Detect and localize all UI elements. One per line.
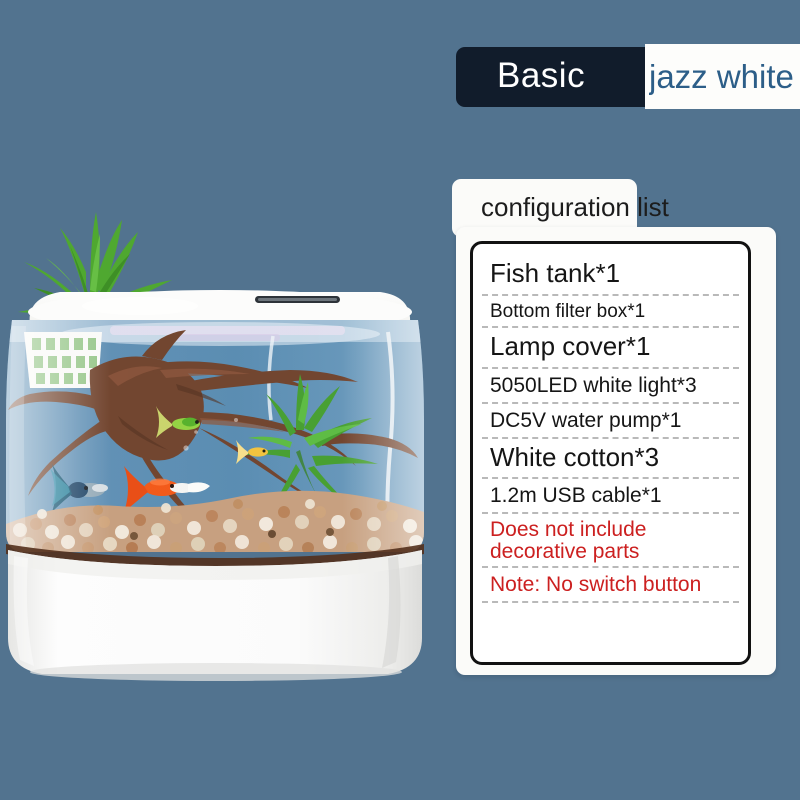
lid-vent-icon: [255, 296, 340, 303]
tank-body: [6, 320, 426, 568]
config-item-label: Fish tank*1: [490, 258, 620, 288]
header-basic-label: Basic: [497, 56, 585, 96]
config-item-label: 5050LED white light*3: [490, 374, 697, 397]
config-item: Does not include decorative parts: [473, 514, 748, 568]
fish-tank-illustration: [0, 120, 440, 700]
configuration-items-box: Fish tank*1Bottom filter box*1Lamp cover…: [470, 241, 751, 665]
config-item-label: DC5V water pump*1: [490, 409, 681, 432]
config-item-label: Lamp cover*1: [490, 331, 650, 361]
config-item-label: Bottom filter box*1: [490, 301, 645, 322]
config-item-separator: [482, 601, 739, 603]
config-item: Fish tank*1: [473, 255, 748, 296]
config-item: White cotton*3: [473, 439, 748, 480]
config-item-label: Note: No switch button: [490, 573, 701, 596]
config-item: Lamp cover*1: [473, 328, 748, 369]
config-item: DC5V water pump*1: [473, 404, 748, 439]
tank-base: [8, 550, 422, 681]
config-item-label: White cotton*3: [490, 442, 659, 472]
product-photo: [0, 120, 440, 700]
header-variant-label: jazz white: [649, 58, 800, 96]
config-item-label: 1.2m USB cable*1: [490, 484, 662, 507]
config-item: 5050LED white light*3: [473, 369, 748, 404]
config-item: Bottom filter box*1: [473, 296, 748, 329]
screenshot-stage: Basic jazz white configuration list Fish…: [0, 0, 800, 800]
config-item: 1.2m USB cable*1: [473, 479, 748, 514]
config-item-label: Does not include decorative parts: [490, 518, 646, 562]
config-item: Note: No switch button: [473, 568, 748, 603]
configuration-list-title: configuration list: [481, 192, 669, 223]
